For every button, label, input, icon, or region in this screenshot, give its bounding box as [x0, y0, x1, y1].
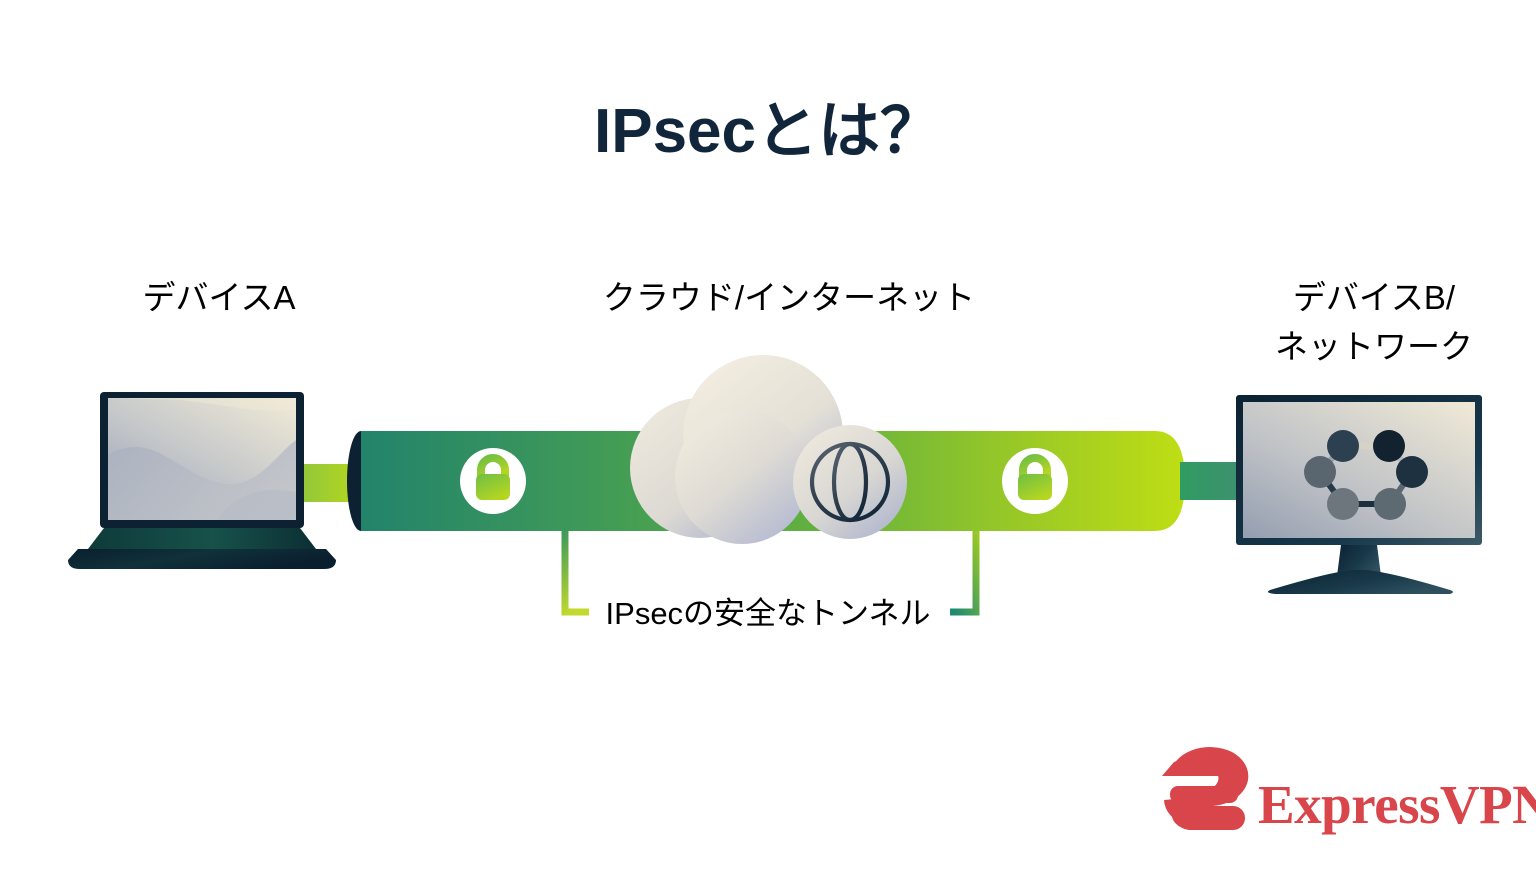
laptop-icon — [68, 392, 336, 569]
cloud-puff-bottom — [675, 410, 809, 544]
page-title: IPsecとは？ — [594, 97, 942, 166]
tunnel-caption: IPsecの安全なトンネル — [606, 596, 931, 631]
network-node — [1304, 456, 1336, 488]
ipsec-tunnel-diagram: IPsecとは？ デバイスA クラウド/インターネット デバイスB/ ネットワー… — [0, 0, 1536, 894]
expressvpn-wordmark: ExpressVPN — [1258, 774, 1536, 835]
monitor-screen — [1243, 402, 1475, 538]
expressvpn-logo: ExpressVPN — [1162, 747, 1536, 835]
right-node-label-line1: デバイスB/ — [1293, 279, 1456, 316]
network-node — [1327, 488, 1359, 520]
tunnel-bracket-right — [950, 531, 976, 612]
center-node-label: クラウド/インターネット — [603, 279, 975, 316]
laptop-deck-upper — [88, 528, 316, 549]
tunnel-bracket-left — [565, 531, 589, 612]
lock-icon-left — [460, 448, 526, 514]
lock-icon-right — [1002, 448, 1068, 514]
monitor-icon — [1236, 395, 1482, 594]
network-node — [1396, 456, 1428, 488]
left-node-label: デバイスA — [142, 279, 295, 316]
network-node — [1373, 430, 1405, 462]
lock-body-left — [476, 474, 510, 500]
lock-body-right — [1018, 474, 1052, 500]
cloud-group — [630, 355, 907, 544]
laptop-base — [68, 549, 336, 569]
monitor-stand-base — [1268, 570, 1453, 594]
diagram-canvas: IPsecとは？ デバイスA クラウド/インターネット デバイスB/ ネットワー… — [0, 0, 1536, 894]
expressvpn-e-icon — [1162, 747, 1248, 830]
network-node — [1327, 430, 1359, 462]
right-node-label-line2: ネットワーク — [1275, 328, 1473, 365]
network-node — [1374, 488, 1406, 520]
